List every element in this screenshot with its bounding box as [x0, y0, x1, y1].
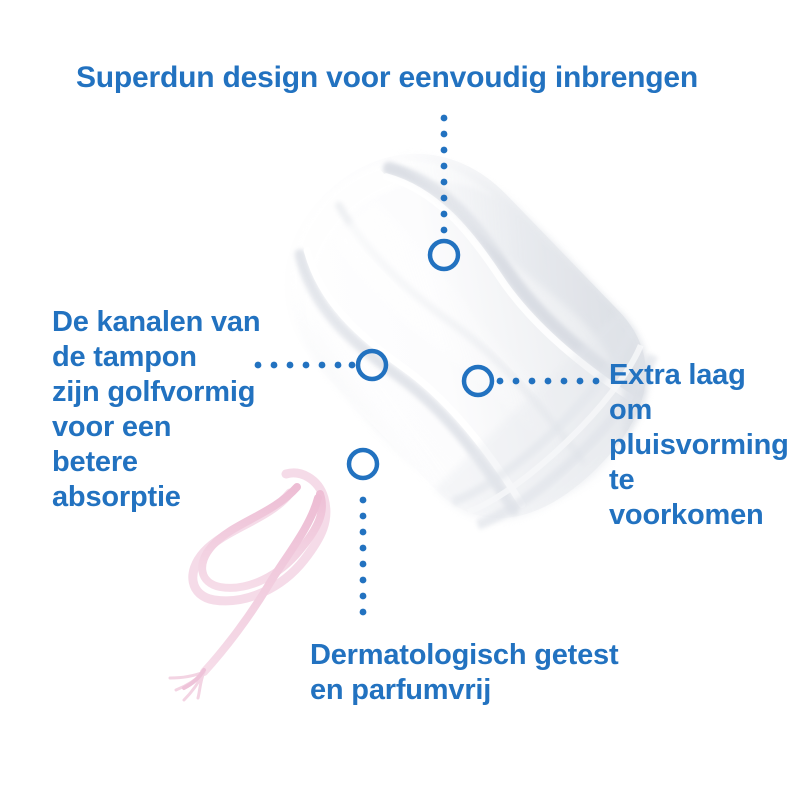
callout-title-label: Superdun design voor eenvoudig inbrengen: [76, 60, 698, 96]
callout-left-label: De kanalen van de tampon zijn golfvormig…: [52, 305, 260, 515]
marker-bottom[interactable]: [349, 450, 377, 478]
infographic-canvas: Superdun design voor eenvoudig inbrengen…: [0, 0, 800, 800]
connector-bottom: [360, 497, 367, 616]
connector-left: [255, 362, 356, 369]
callout-right-label: Extra laag om pluisvorming te voorkomen: [609, 358, 789, 533]
callout-bottom-label: Dermatologisch getest en parfumvrij: [310, 638, 618, 708]
